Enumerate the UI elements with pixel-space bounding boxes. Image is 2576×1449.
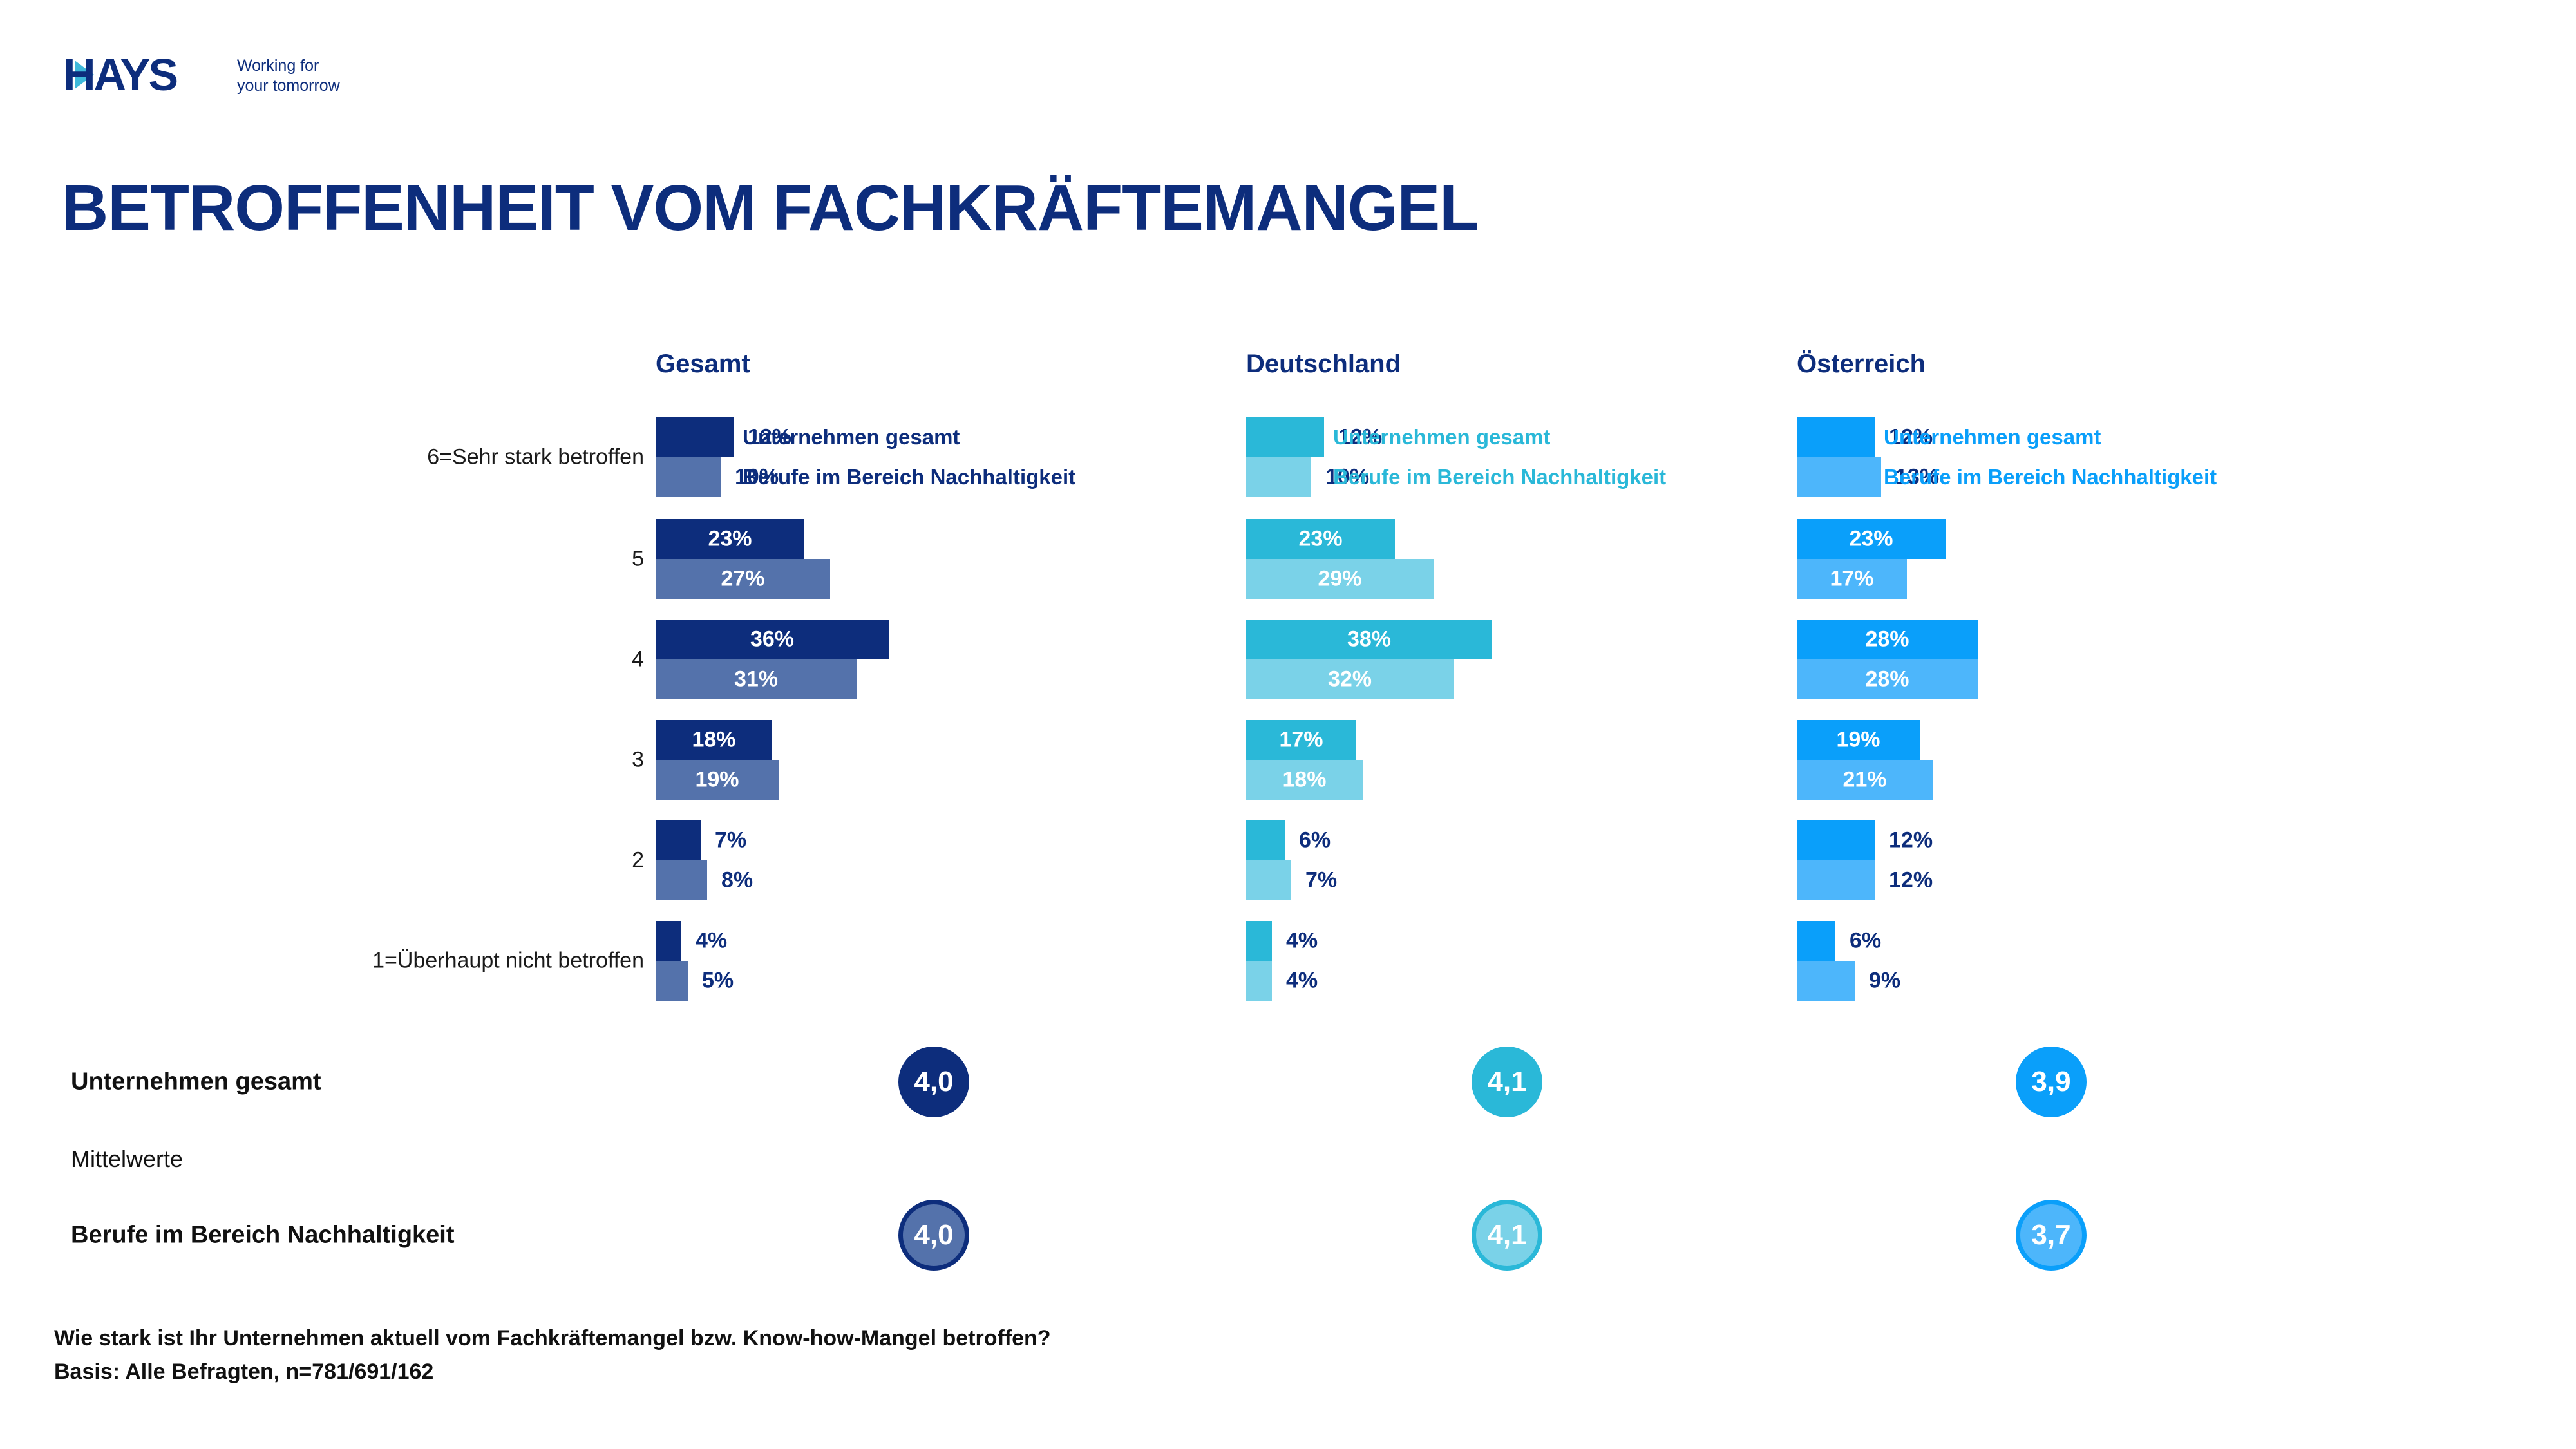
mean-circle-sterreich-unternehmen: 3,9 xyxy=(2016,1046,2087,1117)
legend-unternehmen-gesamt-sterreich: Unternehmen gesamt xyxy=(1884,425,2101,450)
bar-value-label: 29% xyxy=(1318,567,1361,592)
mean-row-label-unternehmen: Unternehmen gesamt xyxy=(71,1068,321,1096)
bar-value-label: 19% xyxy=(1836,728,1880,753)
bar-sterreich-s2-r4: 28% xyxy=(1797,659,1978,699)
bar-sterreich-s2-r5: 17% xyxy=(1797,559,1907,599)
bar-sterreich-s1-r5: 23% xyxy=(1797,519,1946,559)
hays-logo-mark: HAYS xyxy=(63,52,223,98)
bar-deutschland-s1-r4: 38% xyxy=(1246,620,1492,659)
bar-value-label: 8% xyxy=(721,868,753,893)
legend-unternehmen-gesamt-deutschland: Unternehmen gesamt xyxy=(1333,425,1550,450)
bar-gesamt-s1-r6 xyxy=(656,417,734,457)
bar-deutschland-s2-r5: 29% xyxy=(1246,559,1434,599)
bar-value-label: 5% xyxy=(702,969,734,994)
bar-value-label: 7% xyxy=(1305,868,1337,893)
bar-value-label: 28% xyxy=(1865,627,1909,652)
bar-sterreich-s2-r6 xyxy=(1797,457,1881,497)
mean-circle-gesamt-berufe: 4,0 xyxy=(898,1200,969,1271)
footer-basis: Basis: Alle Befragten, n=781/691/162 xyxy=(54,1355,1051,1388)
mean-circle-sterreich-berufe: 3,7 xyxy=(2016,1200,2087,1271)
bar-value-label: 4% xyxy=(696,929,727,954)
bar-deutschland-s2-r2 xyxy=(1246,860,1291,900)
bar-value-label: 7% xyxy=(715,828,746,853)
bar-value-label: 17% xyxy=(1279,728,1323,753)
bar-gesamt-s1-r4: 36% xyxy=(656,620,889,659)
bar-sterreich-s2-r3: 21% xyxy=(1797,760,1933,800)
bar-value-label: 38% xyxy=(1347,627,1391,652)
column-header-gesamt: Gesamt xyxy=(656,350,750,379)
bar-gesamt-s1-r5: 23% xyxy=(656,519,804,559)
page-title: BETROFFENHEIT VOM FACHKRÄFTEMANGEL xyxy=(62,173,1478,243)
column-header-sterreich: Österreich xyxy=(1797,350,1926,379)
bar-gesamt-s2-r1 xyxy=(656,961,688,1001)
bar-gesamt-s1-r1 xyxy=(656,921,681,961)
bar-value-label: 19% xyxy=(695,768,739,793)
mean-circle-deutschland-unternehmen: 4,1 xyxy=(1472,1046,1542,1117)
bar-value-label: 18% xyxy=(1282,768,1326,793)
bar-gesamt-s2-r6 xyxy=(656,457,721,497)
bar-deutschland-s1-r5: 23% xyxy=(1246,519,1395,559)
bar-value-label: 17% xyxy=(1830,567,1873,592)
scale-label-3: 3 xyxy=(632,748,644,773)
legend-unternehmen-gesamt-gesamt: Unternehmen gesamt xyxy=(743,425,960,450)
scale-label-5: 5 xyxy=(632,547,644,572)
bar-value-label: 4% xyxy=(1286,929,1318,954)
bar-value-label: 9% xyxy=(1869,969,1900,994)
bar-sterreich-s1-r6 xyxy=(1797,417,1875,457)
bar-value-label: 23% xyxy=(1298,527,1342,552)
footer-question: Wie stark ist Ihr Unternehmen aktuell vo… xyxy=(54,1321,1051,1355)
bar-deutschland-s2-r3: 18% xyxy=(1246,760,1363,800)
scale-label-1: 1=Überhaupt nicht betroffen xyxy=(372,949,644,974)
bar-value-label: 28% xyxy=(1865,667,1909,692)
scale-label-2: 2 xyxy=(632,848,644,873)
bar-sterreich-s1-r2 xyxy=(1797,820,1875,860)
bar-value-label: 6% xyxy=(1850,929,1881,954)
bar-value-label: 18% xyxy=(692,728,735,753)
bar-value-label: 6% xyxy=(1299,828,1331,853)
bar-sterreich-s1-r1 xyxy=(1797,921,1835,961)
bar-deutschland-s2-r6 xyxy=(1246,457,1311,497)
bar-deutschland-s1-r1 xyxy=(1246,921,1272,961)
bar-deutschland-s2-r4: 32% xyxy=(1246,659,1454,699)
bar-value-label: 12% xyxy=(1889,868,1933,893)
bar-value-label: 21% xyxy=(1842,768,1886,793)
bar-gesamt-s2-r3: 19% xyxy=(656,760,779,800)
bar-sterreich-s2-r1 xyxy=(1797,961,1855,1001)
bar-gesamt-s1-r3: 18% xyxy=(656,720,772,760)
hays-logo: HAYS Working for your tomorrow xyxy=(63,52,340,98)
bar-value-label: 32% xyxy=(1328,667,1372,692)
bar-value-label: 4% xyxy=(1286,969,1318,994)
bar-gesamt-s2-r2 xyxy=(656,860,707,900)
footer-note: Wie stark ist Ihr Unternehmen aktuell vo… xyxy=(54,1321,1051,1388)
legend-berufe-nachhaltigkeit-deutschland: Berufe im Bereich Nachhaltigkeit xyxy=(1333,465,1666,489)
scale-label-4: 4 xyxy=(632,647,644,672)
bar-deutschland-s1-r6 xyxy=(1246,417,1324,457)
legend-berufe-nachhaltigkeit-sterreich: Berufe im Bereich Nachhaltigkeit xyxy=(1884,465,2217,489)
bar-value-label: 12% xyxy=(1889,828,1933,853)
bar-sterreich-s2-r2 xyxy=(1797,860,1875,900)
hays-wordmark: HAYS xyxy=(63,52,176,98)
mean-row-label-berufe: Berufe im Bereich Nachhaltigkeit xyxy=(71,1222,455,1249)
mean-circle-deutschland-berufe: 4,1 xyxy=(1472,1200,1542,1271)
bar-deutschland-s1-r2 xyxy=(1246,820,1285,860)
bar-deutschland-s1-r3: 17% xyxy=(1246,720,1356,760)
bar-value-label: 36% xyxy=(750,627,794,652)
bar-value-label: 23% xyxy=(1849,527,1893,552)
bar-value-label: 23% xyxy=(708,527,752,552)
legend-berufe-nachhaltigkeit-gesamt: Berufe im Bereich Nachhaltigkeit xyxy=(743,465,1075,489)
scale-label-6: 6=Sehr stark betroffen xyxy=(427,445,644,470)
bar-gesamt-s2-r4: 31% xyxy=(656,659,857,699)
bar-sterreich-s1-r3: 19% xyxy=(1797,720,1920,760)
mean-circle-gesamt-unternehmen: 4,0 xyxy=(898,1046,969,1117)
hays-tagline: Working for your tomorrow xyxy=(237,53,340,96)
bar-sterreich-s1-r4: 28% xyxy=(1797,620,1978,659)
bar-value-label: 27% xyxy=(721,567,764,592)
bar-gesamt-s1-r2 xyxy=(656,820,701,860)
bar-gesamt-s2-r5: 27% xyxy=(656,559,830,599)
bar-deutschland-s2-r1 xyxy=(1246,961,1272,1001)
column-header-deutschland: Deutschland xyxy=(1246,350,1401,379)
bar-value-label: 31% xyxy=(734,667,778,692)
mittelwerte-caption: Mittelwerte xyxy=(71,1146,183,1173)
